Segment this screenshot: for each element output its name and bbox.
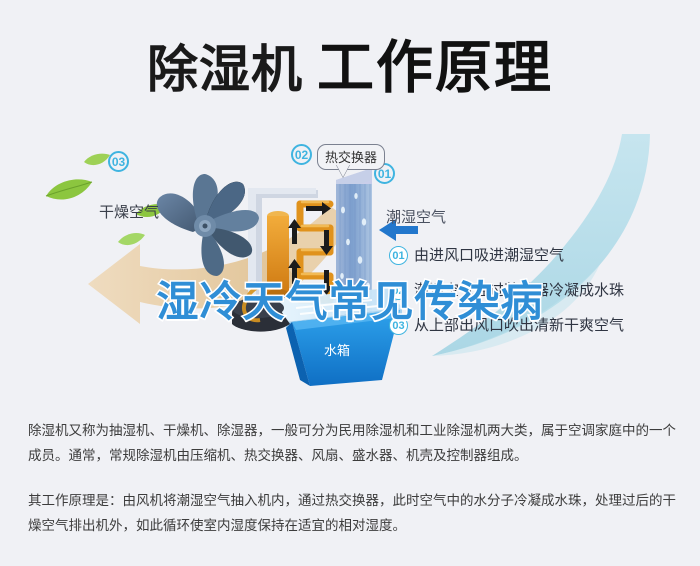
paragraph-2: 其工作原理是：由风机将潮湿空气抽入机内，通过热交换器，此时空气中的水分子冷凝成水… xyxy=(28,488,676,538)
legend-item-01: 01 由进风口吸进潮湿空气 xyxy=(389,246,689,266)
paragraph-1: 除湿机又称为抽湿机、干燥机、除湿器，一般可分为民用除湿机和工业除湿机两大类，属于… xyxy=(28,418,676,468)
label-water-tank: 水箱 xyxy=(324,340,350,359)
infographic-page: 除湿机工作原理 xyxy=(0,0,700,566)
page-title: 除湿机工作原理 xyxy=(0,22,700,104)
leaf-cluster xyxy=(46,154,167,245)
legend-text-01: 由进风口吸进潮湿空气 xyxy=(414,246,564,265)
label-dry-air: 干燥空气 xyxy=(99,201,159,222)
badge-02: 02 xyxy=(291,144,312,165)
label-humid-air: 潮湿空气 xyxy=(386,206,446,227)
heat-exchanger-callout: 热交换器 xyxy=(317,144,385,170)
overlay-headline: 湿冷天气常见传染病 xyxy=(0,268,700,329)
legend-number-01: 01 xyxy=(389,246,408,265)
badge-03: 03 xyxy=(108,151,129,172)
body-text-block: 除湿机又称为抽湿机、干燥机、除湿器，一般可分为民用除湿机和工业除湿机两大类，属于… xyxy=(28,418,676,558)
callout-pointer-icon xyxy=(336,164,350,177)
title-part-2: 工作原理 xyxy=(317,36,553,100)
title-part-1: 除湿机 xyxy=(147,41,303,98)
